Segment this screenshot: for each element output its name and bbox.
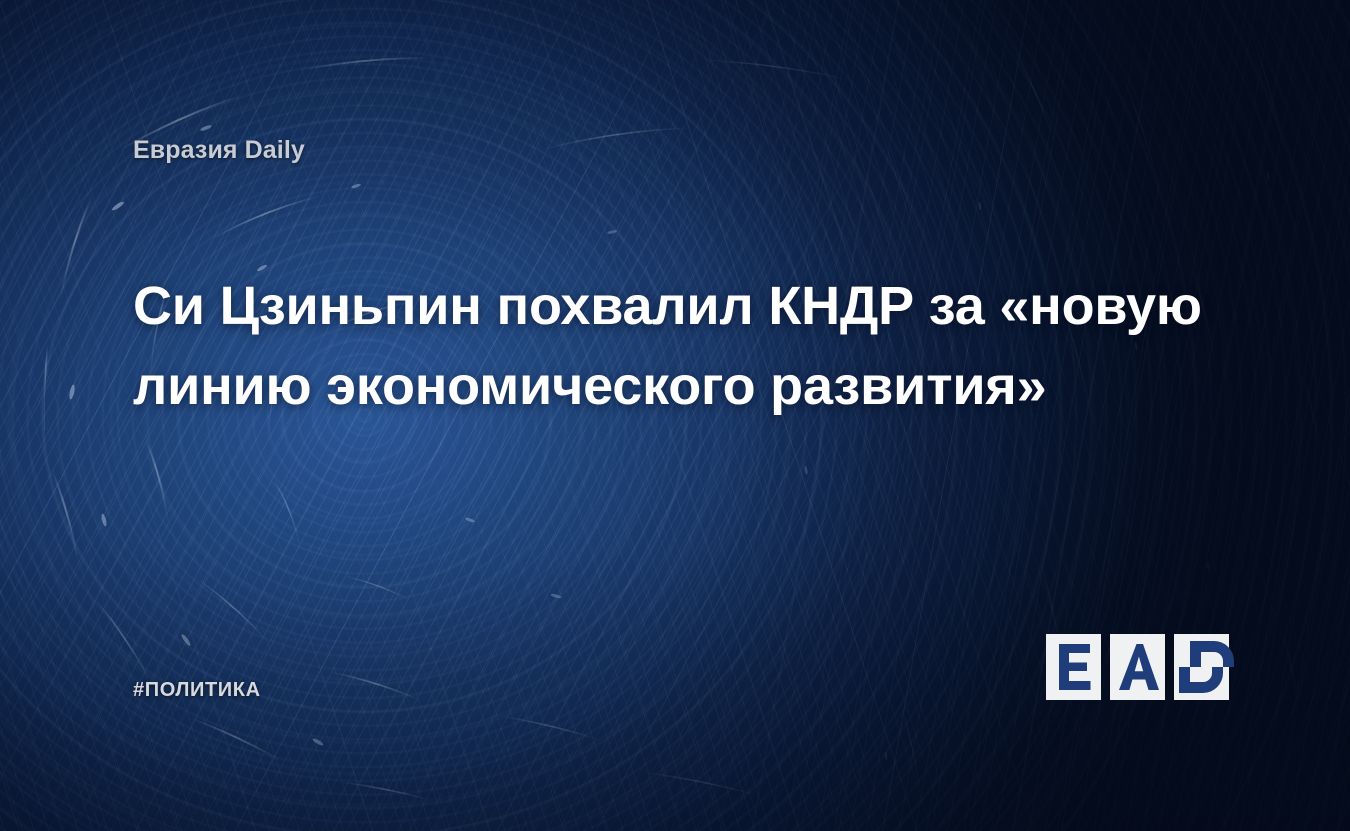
logo-tile-a — [1110, 634, 1165, 700]
headline: Си Цзиньпин похвалил КНДР за «новую лини… — [133, 266, 1213, 426]
logo-tile-d — [1174, 634, 1229, 700]
brand-name: Евразия Daily — [133, 136, 305, 165]
logo-tile-e — [1046, 634, 1101, 700]
card-content: Евразия Daily Си Цзиньпин похвалил КНДР … — [0, 0, 1350, 831]
category-hashtag[interactable]: #ПОЛИТИКА — [133, 679, 261, 702]
headline-line-1: Си Цзиньпин похвалил КНДР за «новую — [133, 266, 1213, 346]
news-card: Евразия Daily Си Цзиньпин похвалил КНДР … — [0, 0, 1350, 831]
headline-line-2: линию экономического развития» — [133, 346, 1213, 426]
eadaily-logo[interactable] — [1046, 634, 1229, 700]
